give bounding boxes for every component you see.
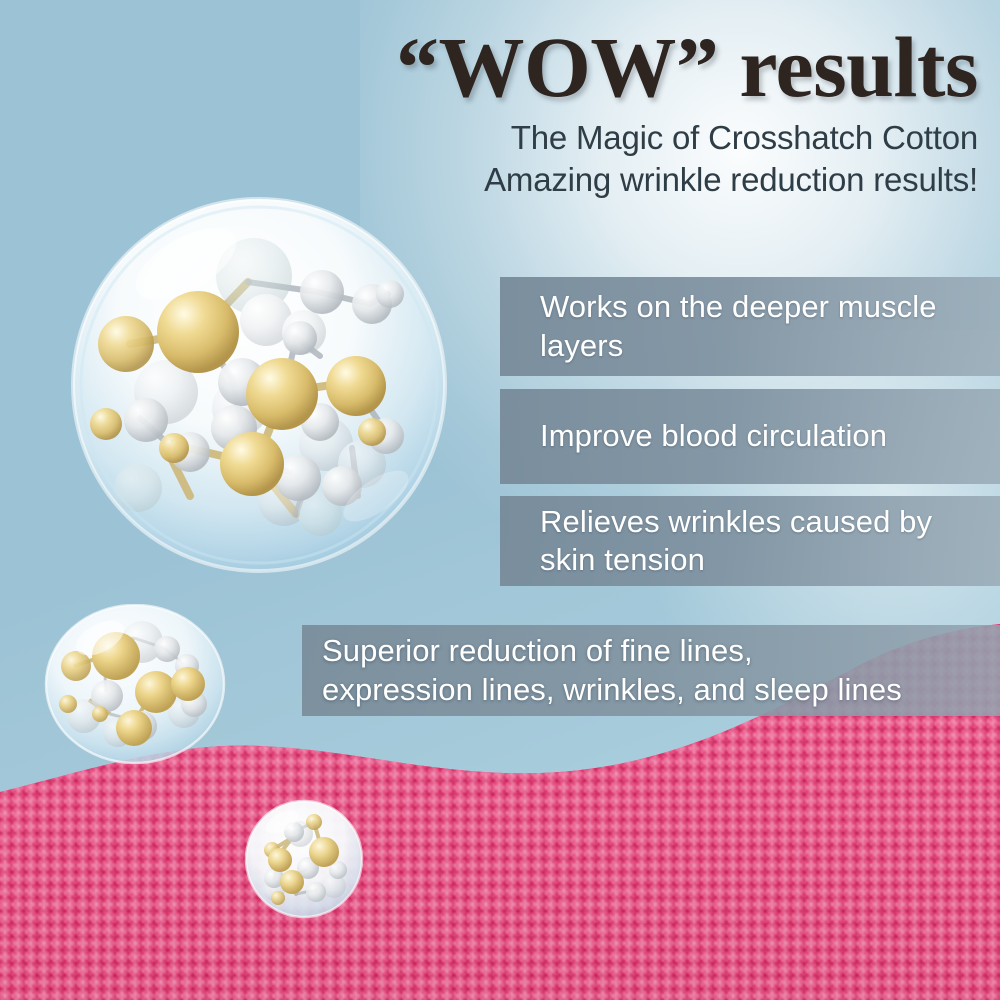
feature-bar-3: Relieves wrinkles caused by skin tension (500, 496, 1000, 586)
feature-bar-1: Works on the deeper muscle layers (500, 277, 1000, 376)
feature-bar-2-text: Improve blood circulation (540, 417, 887, 455)
subtitle-line-1: The Magic of Crosshatch Cotton (511, 119, 978, 156)
feature-bar-1-text: Works on the deeper muscle layers (540, 288, 986, 365)
subtitle-line-2: Amazing wrinkle reduction results! (484, 161, 978, 198)
molecule-bubble-small-icon (244, 798, 364, 920)
page-title: “WOW” results (218, 26, 978, 109)
wow-results-poster: “WOW” results The Magic of Crosshatch Co… (0, 0, 1000, 1000)
page-subtitle: The Magic of Crosshatch Cotton Amazing w… (218, 117, 978, 200)
bottom-banner-text: Superior reduction of fine lines, expres… (322, 631, 1000, 709)
molecule-bubble-large-icon (70, 196, 448, 574)
heading-block: “WOW” results The Magic of Crosshatch Co… (218, 26, 978, 200)
feature-bar-2: Improve blood circulation (500, 389, 1000, 484)
banner-line-2: expression lines, wrinkles, and sleep li… (322, 672, 902, 707)
banner-line-1: Superior reduction of fine lines, (322, 633, 753, 668)
molecule-bubble-medium-icon (44, 604, 226, 764)
feature-bar-3-text: Relieves wrinkles caused by skin tension (540, 503, 986, 580)
